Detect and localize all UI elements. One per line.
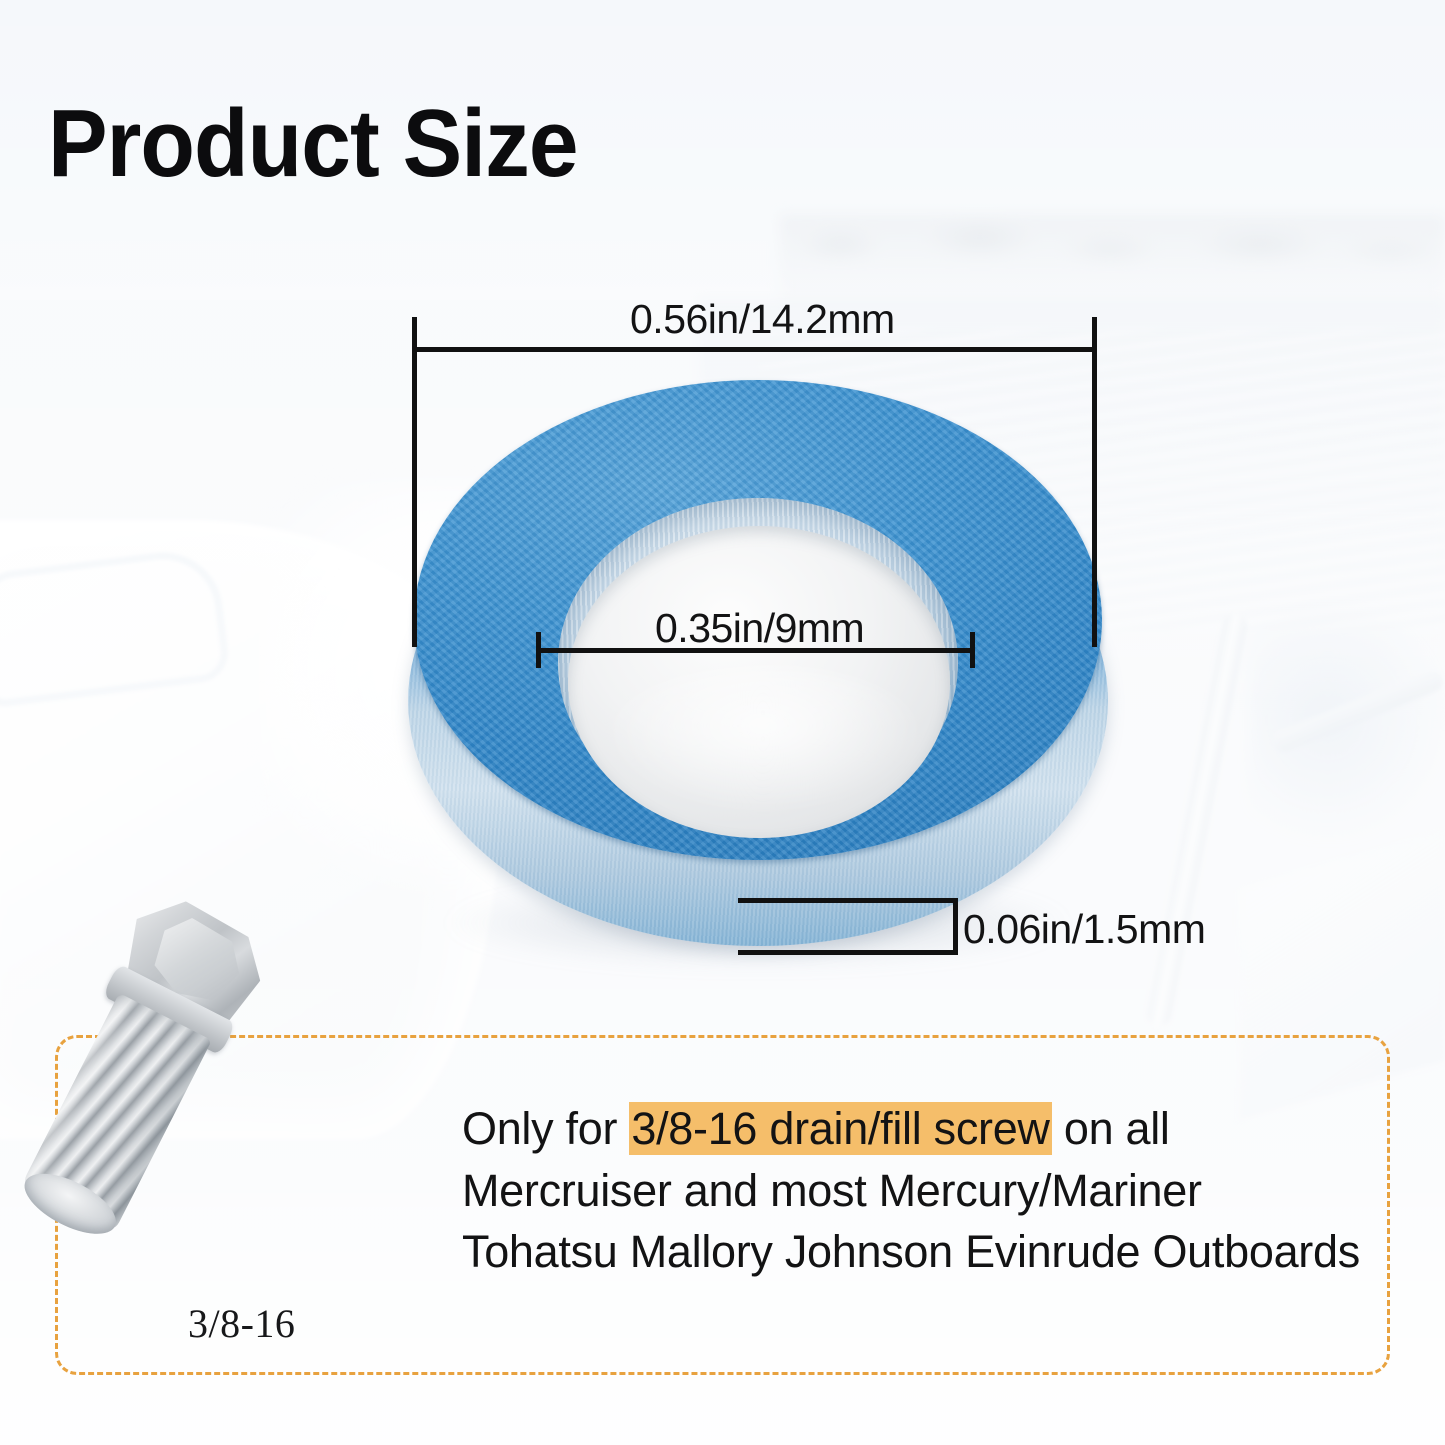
outer-diameter-rule [412, 347, 1097, 352]
thickness-rule [953, 898, 958, 955]
outer-diameter-tick-left [412, 317, 417, 647]
washer-bore-opening [568, 526, 950, 838]
washer-bore-sheen [598, 666, 928, 816]
callout-lead-text: Only for [462, 1103, 629, 1154]
boat-hull-rail [0, 546, 231, 709]
boat-railing-post [1145, 612, 1249, 1029]
compatibility-text: Only for 3/8-16 drain/fill screw on all … [462, 1098, 1362, 1283]
thickness-label: 0.06in/1.5mm [963, 906, 1205, 953]
thickness-leader-bottom [738, 950, 958, 955]
bolt-size-caption: 3/8-16 [188, 1300, 295, 1347]
callout-highlight-text: 3/8-16 drain/fill screw [629, 1102, 1051, 1155]
inner-diameter-label: 0.35in/9mm [655, 605, 864, 652]
boat-railing-bar [1270, 667, 1445, 755]
boat-window-region [1250, 600, 1445, 840]
product-size-infographic: Product Size 0.56in/14.2mm 0.35in/9mm [0, 0, 1445, 1445]
page-title: Product Size [48, 96, 578, 192]
outer-diameter-tick-right [1092, 317, 1097, 647]
thickness-leader-top [738, 898, 958, 903]
outer-diameter-label: 0.56in/14.2mm [630, 296, 895, 343]
washer-illustration [408, 378, 1108, 963]
